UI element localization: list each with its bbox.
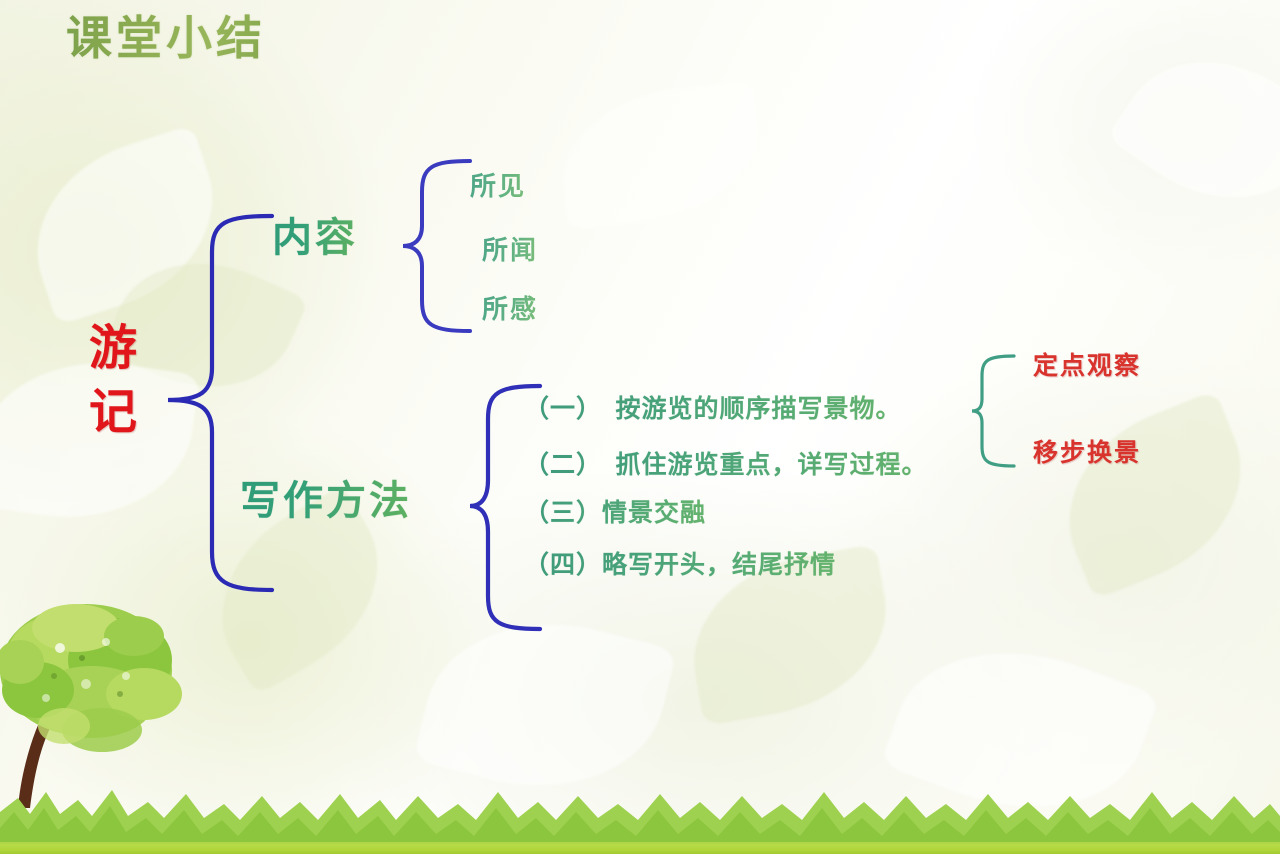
- method-item-2: （二） 抓住游览重点，详写过程。: [524, 448, 928, 482]
- side-note-moving-viewpoint: 移步换景: [1033, 437, 1141, 469]
- watermark-leaf: [1106, 22, 1280, 239]
- leaf-label-suogan: 所感: [482, 293, 538, 327]
- grass-illustration: [0, 768, 1280, 854]
- watermark-leaf: [413, 595, 677, 816]
- leaf-label-suojian: 所见: [470, 170, 526, 204]
- brace-content: [403, 161, 470, 331]
- root-char-1: 游: [68, 316, 160, 380]
- side-note-fixed-point-observation: 定点观察: [1033, 350, 1141, 382]
- branch-label-writing-method: 写作方法: [240, 476, 412, 526]
- tree-illustration: [0, 598, 264, 818]
- page-title: 课堂小结: [66, 8, 266, 68]
- tree-foliage: [0, 604, 182, 752]
- leaf-label-suowen: 所闻: [482, 234, 538, 268]
- tree-branch: [50, 688, 92, 718]
- tree-trunk: [18, 678, 80, 808]
- watermark-leaf: [554, 80, 766, 230]
- watermark-leaf: [1039, 390, 1271, 600]
- brace-side-notes: [972, 356, 1014, 466]
- bottom-accent-bar: [0, 844, 1280, 854]
- root-char-2: 记: [68, 380, 160, 444]
- method-item-1: （一） 按游览的顺序描写景物。: [524, 392, 902, 426]
- slide-canvas: 课堂小结 游 记 内容 写作方法 所见 所闻 所感 （一） 按游览的顺序描写景物…: [0, 0, 1280, 854]
- watermark-leaf: [11, 124, 238, 325]
- brace-root: [168, 216, 272, 590]
- mindmap-root-node: 游 记: [68, 316, 160, 444]
- branch-label-content: 内容: [272, 213, 358, 263]
- mindmap-connectors: [0, 0, 1280, 854]
- method-item-4: （四）略写开头，结尾抒情: [524, 548, 836, 582]
- method-item-3: （三）情景交融: [524, 496, 706, 530]
- watermark-leaf: [880, 614, 1160, 846]
